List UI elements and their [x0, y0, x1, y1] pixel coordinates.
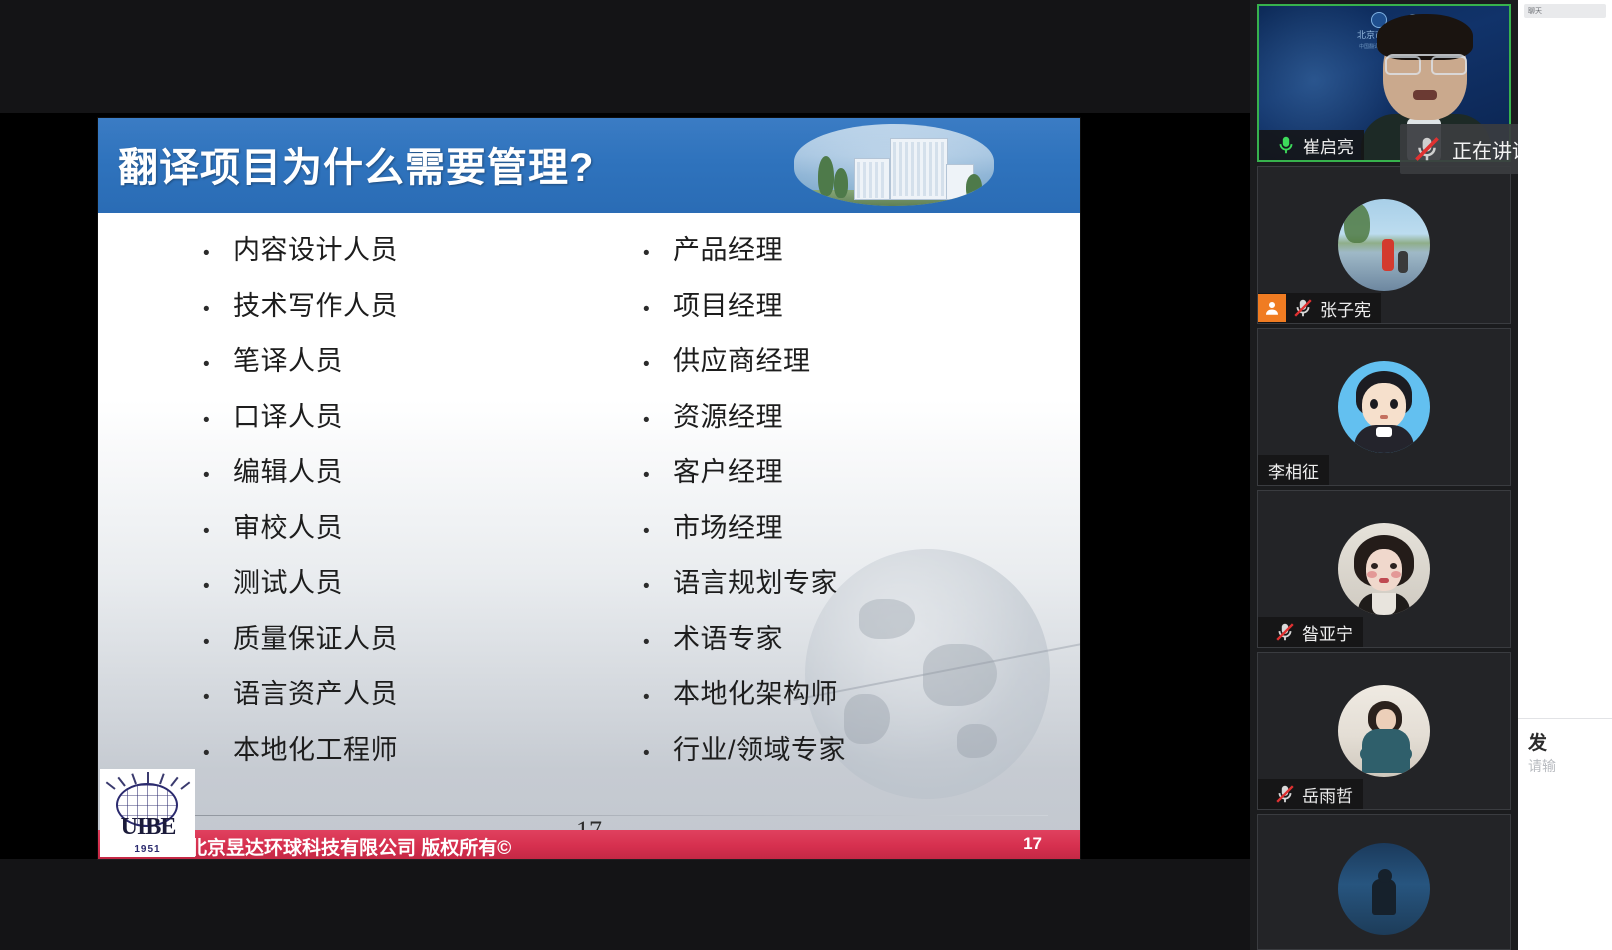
- mic-muted-icon: [1274, 782, 1296, 806]
- avatar: [1338, 523, 1430, 615]
- participant-tile-lixiangzheng[interactable]: 李相征: [1257, 328, 1511, 486]
- list-item: •语言规划专家: [643, 561, 1063, 617]
- list-item: •测试人员: [203, 561, 623, 617]
- bullet-text: 审校人员: [233, 506, 343, 545]
- bullet-marker-icon: •: [203, 744, 233, 763]
- bullet-marker-icon: •: [643, 411, 673, 430]
- avatar: [1338, 199, 1430, 291]
- list-item: •口译人员: [203, 395, 623, 451]
- bullet-text: 笔译人员: [233, 339, 343, 378]
- bullet-marker-icon: •: [643, 688, 673, 707]
- bullet-marker-icon: •: [203, 355, 233, 374]
- bullet-marker-icon: •: [643, 244, 673, 263]
- bullet-column-left: •内容设计人员 •技术写作人员 •笔译人员 •口译人员 •编辑人员 •审校人员 …: [203, 228, 623, 783]
- bullet-text: 口译人员: [233, 395, 343, 434]
- bullet-marker-icon: •: [203, 577, 233, 596]
- mic-on-icon: [1275, 133, 1297, 157]
- avatar: [1338, 685, 1430, 777]
- mic-muted-icon: [1292, 296, 1314, 320]
- bullet-column-right: •产品经理 •项目经理 •供应商经理 •资源经理 •客户经理 •市场经理 •语言…: [643, 228, 1063, 783]
- bullet-marker-icon: •: [643, 522, 673, 541]
- bullet-marker-icon: •: [643, 577, 673, 596]
- campus-building-photo: [794, 124, 994, 206]
- list-item: •市场经理: [643, 506, 1063, 562]
- list-item: •术语专家: [643, 617, 1063, 673]
- chat-panel[interactable]: 聊天 发 请输: [1518, 0, 1612, 950]
- slide-footer-page-number: 17: [1023, 834, 1042, 854]
- mic-muted-icon: [1274, 620, 1296, 644]
- list-item: •审校人员: [203, 506, 623, 562]
- list-item: •内容设计人员: [203, 228, 623, 284]
- bullet-text: 本地化工程师: [233, 728, 398, 767]
- list-item: •行业/领域专家: [643, 728, 1063, 784]
- participant-tile-zhangzixian[interactable]: 张子宪: [1257, 166, 1511, 324]
- bullet-text: 项目经理: [673, 284, 783, 323]
- presentation-slide[interactable]: 翻译项目为什么需要管理?: [98, 118, 1080, 859]
- bullet-marker-icon: •: [203, 244, 233, 263]
- participant-name: 张子宪: [1320, 296, 1371, 321]
- bullet-marker-icon: •: [643, 300, 673, 319]
- list-item: •供应商经理: [643, 339, 1063, 395]
- list-item: •技术写作人员: [203, 284, 623, 340]
- participant-name: 昝亚宁: [1302, 620, 1353, 645]
- bullet-text: 市场经理: [673, 506, 783, 545]
- slide-footer-bar: 北京昱达环球科技有限公司 版权所有© 17: [98, 830, 1080, 859]
- participant-name-chip: 崔启亮: [1259, 130, 1364, 160]
- bullet-text: 编辑人员: [233, 450, 343, 489]
- bullet-text: 语言规划专家: [673, 561, 838, 600]
- participant-name-chip: 岳雨哲: [1258, 779, 1363, 809]
- bullet-text: 语言资产人员: [233, 672, 398, 711]
- bullet-text: 产品经理: [673, 228, 783, 267]
- list-item: •本地化工程师: [203, 728, 623, 784]
- participant-name-chip: 张子宪: [1258, 293, 1381, 323]
- list-item: •笔译人员: [203, 339, 623, 395]
- bullet-text: 资源经理: [673, 395, 783, 434]
- participant-tile-partial[interactable]: [1257, 814, 1511, 950]
- slide-footer-text: 北京昱达环球科技有限公司 版权所有©: [188, 833, 511, 859]
- list-item: •编辑人员: [203, 450, 623, 506]
- list-item: •本地化架构师: [643, 672, 1063, 728]
- uibe-logo: UIBE 1951: [100, 769, 195, 857]
- bullet-text: 供应商经理: [673, 339, 811, 378]
- bullet-marker-icon: •: [203, 300, 233, 319]
- uibe-wordmark: UIBE: [107, 814, 189, 841]
- participant-tile-yueyuzhe[interactable]: 岳雨哲: [1257, 652, 1511, 810]
- participant-name-chip: 李相征: [1258, 455, 1329, 485]
- bullet-marker-icon: •: [203, 633, 233, 652]
- bullet-text: 技术写作人员: [233, 284, 398, 323]
- shared-screen-stage: 翻译项目为什么需要管理?: [0, 0, 1250, 950]
- meeting-screen: 翻译项目为什么需要管理?: [0, 0, 1612, 950]
- mic-muted-icon: [1412, 133, 1442, 165]
- host-badge-icon: [1258, 294, 1286, 322]
- list-item: •语言资产人员: [203, 672, 623, 728]
- bullet-marker-icon: •: [203, 466, 233, 485]
- list-item: •质量保证人员: [203, 617, 623, 673]
- slide-header-band: 翻译项目为什么需要管理?: [98, 118, 1080, 213]
- bullet-marker-icon: •: [203, 522, 233, 541]
- chat-send-label: 发: [1528, 728, 1612, 755]
- chat-input[interactable]: 请输: [1528, 756, 1612, 776]
- bullet-marker-icon: •: [203, 411, 233, 430]
- participant-name-chip: 昝亚宁: [1258, 617, 1363, 647]
- avatar: [1338, 361, 1430, 453]
- participant-tile-zanyaning[interactable]: 昝亚宁: [1257, 490, 1511, 648]
- bullet-text: 术语专家: [673, 617, 783, 656]
- slide-title: 翻译项目为什么需要管理?: [118, 135, 594, 193]
- slide-bullet-columns: •内容设计人员 •技术写作人员 •笔译人员 •口译人员 •编辑人员 •审校人员 …: [98, 228, 1080, 803]
- chat-panel-header: 聊天: [1524, 4, 1606, 18]
- list-item: •项目经理: [643, 284, 1063, 340]
- list-item: •产品经理: [643, 228, 1063, 284]
- bullet-marker-icon: •: [203, 688, 233, 707]
- chat-divider: [1518, 718, 1612, 719]
- avatar: [1338, 843, 1430, 935]
- bullet-text: 本地化架构师: [673, 672, 838, 711]
- bullet-marker-icon: •: [643, 633, 673, 652]
- participant-name: 李相征: [1258, 458, 1319, 483]
- bullet-marker-icon: •: [643, 355, 673, 374]
- participant-name: 崔启亮: [1303, 133, 1354, 158]
- bullet-text: 内容设计人员: [233, 228, 398, 267]
- list-item: •资源经理: [643, 395, 1063, 451]
- bullet-marker-icon: •: [643, 744, 673, 763]
- bullet-marker-icon: •: [643, 466, 673, 485]
- list-item: •客户经理: [643, 450, 1063, 506]
- bullet-text: 质量保证人员: [233, 617, 398, 656]
- participant-name: 岳雨哲: [1302, 782, 1353, 807]
- uibe-year: 1951: [100, 844, 195, 855]
- bullet-text: 行业/领域专家: [673, 728, 846, 767]
- bullet-text: 客户经理: [673, 450, 783, 489]
- bullet-text: 测试人员: [233, 561, 343, 600]
